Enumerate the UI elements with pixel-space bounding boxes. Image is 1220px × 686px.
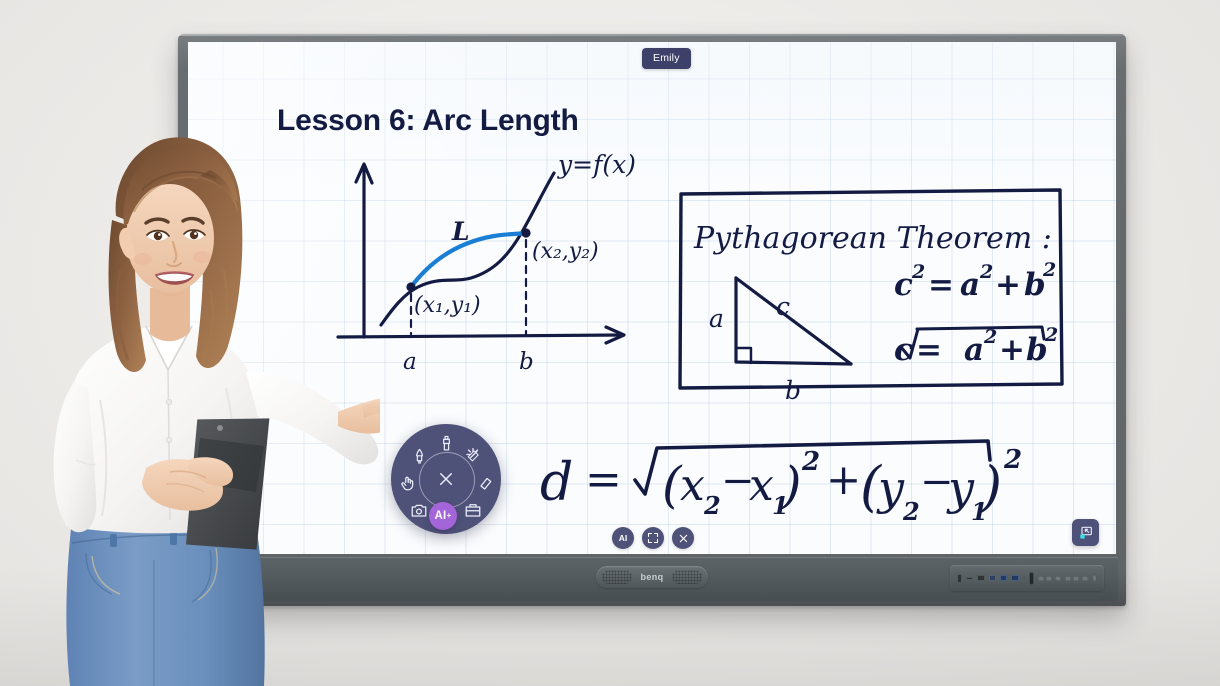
port-usb-a-2 bbox=[1011, 575, 1018, 581]
distance-formula: d = ( x 2 − x 1 ) 2 + ( y 2 − y 1 ) 2 bbox=[540, 441, 1022, 526]
graph-label-function: y=f(x) bbox=[557, 150, 636, 179]
port-hdmi bbox=[977, 575, 985, 581]
port-audio bbox=[966, 577, 973, 580]
power-button[interactable] bbox=[1092, 574, 1097, 582]
svg-text:2: 2 bbox=[983, 326, 997, 348]
ir-sensor bbox=[1029, 572, 1034, 585]
radial-tool-menu[interactable]: AI+ bbox=[391, 424, 501, 534]
expand-button[interactable] bbox=[642, 527, 664, 549]
svg-text:+: + bbox=[995, 267, 1021, 303]
control-button-3[interactable] bbox=[1055, 576, 1061, 581]
close-icon[interactable] bbox=[436, 469, 456, 489]
floating-toolbar[interactable]: AI bbox=[612, 527, 694, 549]
magic-wand-icon[interactable] bbox=[463, 446, 483, 466]
svg-text:2: 2 bbox=[801, 447, 820, 477]
presenter-neck bbox=[150, 286, 190, 341]
point-x2y2 bbox=[521, 228, 530, 237]
control-button-1[interactable] bbox=[1038, 576, 1044, 581]
svg-text:=: = bbox=[916, 332, 942, 368]
svg-text:=: = bbox=[585, 454, 622, 505]
presenter-person bbox=[50, 120, 380, 686]
cast-icon bbox=[1078, 525, 1094, 541]
theorem-hypotenuse-c: c bbox=[776, 292, 790, 321]
presenter-pointing-arm bbox=[338, 396, 380, 434]
graph-tick-a: a bbox=[403, 349, 417, 375]
control-button-2[interactable] bbox=[1046, 576, 1052, 581]
ai-assist-label: AI bbox=[434, 510, 446, 522]
eraser-icon[interactable] bbox=[474, 473, 494, 493]
graph-label-point1: (x₁,y₁) bbox=[414, 293, 481, 318]
theorem-leg-b: b bbox=[785, 376, 801, 405]
control-button-6[interactable] bbox=[1082, 576, 1088, 581]
svg-text:+: + bbox=[826, 455, 861, 504]
svg-text:): ) bbox=[980, 455, 1002, 518]
ai-assist-button[interactable]: AI+ bbox=[429, 502, 457, 530]
svg-text:=: = bbox=[928, 267, 954, 303]
point-x1y1 bbox=[406, 282, 415, 291]
theorem-leg-a: a bbox=[709, 304, 724, 333]
brand-speaker-pill: benq bbox=[596, 566, 708, 588]
port-usb-b bbox=[989, 575, 996, 581]
svg-text:a: a bbox=[960, 267, 980, 303]
control-button-4[interactable] bbox=[1065, 576, 1071, 581]
svg-text:x: x bbox=[749, 460, 774, 511]
camera-icon[interactable] bbox=[409, 500, 429, 520]
svg-text:2: 2 bbox=[1044, 324, 1058, 346]
svg-text:2: 2 bbox=[902, 497, 920, 526]
graph-tick-b: b bbox=[519, 349, 534, 375]
speaker-mesh-left bbox=[602, 570, 632, 584]
user-badge: Emily bbox=[642, 48, 691, 69]
svg-text:+: + bbox=[999, 332, 1025, 368]
brand-logo: benq bbox=[640, 572, 663, 582]
theorem-heading: Pythagorean Theorem : bbox=[693, 221, 1052, 256]
svg-text:2: 2 bbox=[1042, 259, 1056, 281]
toolbox-icon[interactable] bbox=[463, 500, 483, 520]
control-buttons-2[interactable] bbox=[1065, 576, 1088, 581]
svg-text:): ) bbox=[781, 456, 802, 514]
port-card-slot bbox=[957, 574, 962, 583]
ai-assist-superscript: + bbox=[447, 512, 452, 520]
close-button[interactable] bbox=[672, 527, 694, 549]
svg-text:y: y bbox=[876, 461, 905, 515]
speaker-mesh-right bbox=[672, 570, 702, 584]
svg-text:2: 2 bbox=[703, 491, 721, 520]
svg-text:2: 2 bbox=[979, 261, 993, 283]
expand-arrows-icon bbox=[647, 532, 659, 544]
control-buttons[interactable] bbox=[1038, 576, 1061, 581]
marker-icon[interactable] bbox=[436, 433, 456, 453]
port-indicator bbox=[1023, 576, 1026, 580]
control-button-5[interactable] bbox=[1073, 576, 1079, 581]
svg-text:x: x bbox=[680, 460, 705, 511]
ai-button[interactable]: AI bbox=[612, 527, 634, 549]
theorem-equation-1: c 2 = a 2 + b 2 bbox=[894, 259, 1056, 303]
screen-cast-button[interactable] bbox=[1072, 519, 1099, 546]
graph-label-point2: (x₂,y₂) bbox=[532, 239, 599, 264]
svg-text:2: 2 bbox=[911, 261, 925, 283]
port-usb-a-1 bbox=[1000, 575, 1007, 581]
hand-select-icon[interactable] bbox=[398, 473, 418, 493]
svg-text:c: c bbox=[894, 332, 913, 368]
pen-icon[interactable] bbox=[409, 446, 429, 466]
port-panel bbox=[950, 565, 1104, 591]
ai-button-label: AI bbox=[619, 533, 628, 543]
svg-text:d: d bbox=[540, 453, 573, 513]
svg-text:2: 2 bbox=[1003, 445, 1022, 475]
close-icon bbox=[678, 533, 689, 544]
svg-text:c: c bbox=[894, 267, 913, 303]
svg-text:a: a bbox=[964, 332, 984, 368]
graph-label-arc: L bbox=[451, 217, 470, 246]
